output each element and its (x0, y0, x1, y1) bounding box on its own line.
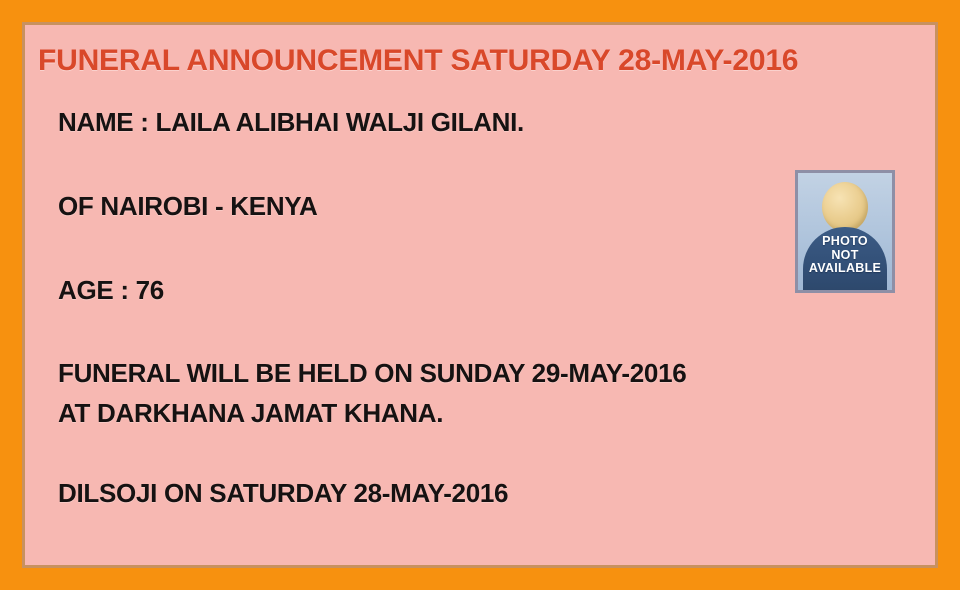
dilsoji-line: DILSOJI ON SATURDAY 28-MAY-2016 (58, 478, 508, 509)
photo-caption-line-1: PHOTO (798, 235, 892, 249)
deceased-age-line: AGE : 76 (58, 275, 164, 306)
funeral-details-line-2: AT DARKHANA JAMAT KHANA. (58, 398, 443, 429)
photo-caption-line-3: AVAILABLE (798, 262, 892, 276)
person-head-icon (822, 182, 868, 232)
photo-caption-line-2: NOT (798, 249, 892, 263)
photo-placeholder-caption: PHOTO NOT AVAILABLE (798, 235, 892, 276)
announcement-headline: FUNERAL ANNOUNCEMENT SATURDAY 28-MAY-201… (38, 44, 798, 78)
funeral-announcement-poster: FUNERAL ANNOUNCEMENT SATURDAY 28-MAY-201… (0, 0, 960, 590)
funeral-details-line-1: FUNERAL WILL BE HELD ON SUNDAY 29-MAY-20… (58, 358, 686, 389)
deceased-location-line: OF NAIROBI - KENYA (58, 191, 317, 222)
photo-not-available-placeholder: PHOTO NOT AVAILABLE (795, 170, 895, 293)
deceased-name-line: NAME : LAILA ALIBHAI WALJI GILANI. (58, 107, 524, 138)
announcement-card: FUNERAL ANNOUNCEMENT SATURDAY 28-MAY-201… (22, 22, 938, 568)
photo-placeholder-inner: PHOTO NOT AVAILABLE (798, 173, 892, 290)
